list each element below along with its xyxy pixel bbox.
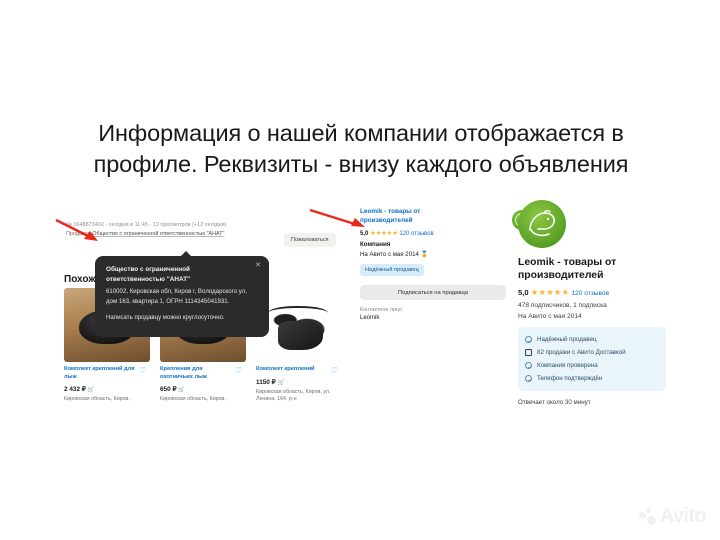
cart-icon: 🛒	[88, 387, 95, 393]
avito-watermark: Avito	[639, 505, 706, 528]
screenshot-collage: № 1648873402 · сегодня в 11:45 · 12 прос…	[56, 200, 668, 415]
seller-since: На Авито с мая 2014 🏅	[360, 251, 510, 258]
annotation-arrow-left	[54, 218, 100, 244]
heart-icon[interactable]: ♡	[235, 366, 244, 375]
seller-company-link[interactable]: Общество с ограниченной ответственностью…	[92, 231, 224, 237]
badge-label: Компания проверена	[537, 362, 598, 369]
list-item: Надёжный продавец	[525, 333, 659, 346]
product-title[interactable]: Комплект креплений	[256, 366, 328, 374]
seller-rating: 5,0 ★★★★★ 120 отзывов	[360, 229, 510, 237]
contact-person-value: Leomik	[360, 315, 510, 321]
tooltip-company-address: 610002, Кировская обл, Киров г, Володарс…	[106, 287, 258, 306]
company-details-tooltip: ✕ Общество с ограниченной ответственност…	[95, 256, 269, 337]
list-item: Компания проверена	[525, 359, 659, 372]
tooltip-company-name: Общество с ограниченной ответственностью…	[106, 265, 246, 285]
heart-icon[interactable]: ♡	[331, 366, 340, 375]
badge-label: Телефон подтверждён	[537, 375, 602, 382]
leomik-logo-icon	[518, 200, 566, 248]
cart-icon: 🛒	[278, 380, 285, 386]
check-circle-icon	[525, 336, 532, 343]
profile-since: На Авито с мая 2014	[518, 313, 668, 320]
seller-rating-value: 5,0	[360, 231, 368, 237]
cart-icon: 🛒	[178, 387, 185, 393]
contact-person-label: Контактное лицо	[360, 307, 510, 313]
check-circle-icon	[525, 362, 532, 369]
star-rating-icon: ★★★★★	[370, 230, 398, 237]
watermark-text: Avito	[660, 505, 706, 528]
product-card[interactable]: ♡ Комплект креплений 1150 ₽ 🛒 Кировская …	[256, 366, 342, 403]
tooltip-note: Написать продавцу можно круглосуточно.	[106, 313, 258, 323]
tooltip-arrow	[181, 251, 191, 256]
close-icon[interactable]: ✕	[255, 262, 261, 269]
avito-dots-icon	[639, 508, 656, 525]
slide-root: Информация о нашей компании отображается…	[0, 0, 720, 540]
seller-info-block: Leomik - товары от производителей 5,0 ★★…	[360, 208, 510, 321]
subscribe-button[interactable]: Подписаться на продавца	[360, 285, 506, 300]
product-location: Кировская область, Киров,	[160, 396, 242, 403]
product-title[interactable]: Крепления для охотничьих лыж	[160, 366, 232, 381]
page-title: Информация о нашей компании отображается…	[44, 118, 678, 180]
product-location: Кировская область, Киров, ул. Ленина, 16…	[256, 389, 338, 403]
product-location: Кировская область, Киров,	[64, 396, 146, 403]
profile-rating: 5,0 ★★★★★ 120 отзывов	[518, 287, 668, 297]
product-card[interactable]: ♡ Комплект креплений для лыж 2 432 ₽ 🛒 К…	[64, 366, 150, 403]
badge-label: Надёжный продавец	[537, 336, 597, 343]
profile-reviews-link[interactable]: 120 отзывов	[571, 290, 609, 297]
seller-name-link[interactable]: Leomik - товары от производителей	[360, 208, 446, 225]
seller-reviews-link[interactable]: 120 отзывов	[399, 231, 433, 237]
annotation-arrow-right	[308, 206, 368, 232]
product-price: 650 ₽ 🛒	[160, 385, 246, 393]
product-price: 1150 ₽ 🛒	[256, 378, 342, 386]
profile-subscribers: 478 подписчиков, 1 подписка	[518, 302, 668, 309]
star-rating-icon: ★★★★★	[531, 287, 570, 297]
profile-reply-time: Отвечает около 30 минут	[518, 399, 668, 406]
list-item: 82 продажи с Авито Доставкой	[525, 346, 659, 359]
profile-name: Leomik - товары от производителей	[518, 256, 654, 282]
profile-badge-list: Надёжный продавец 82 продажи с Авито Дос…	[518, 327, 666, 391]
check-circle-icon	[525, 375, 532, 382]
product-card[interactable]: ♡ Крепления для охотничьих лыж 650 ₽ 🛒 К…	[160, 366, 246, 403]
truck-icon	[525, 349, 532, 356]
product-price: 2 432 ₽ 🛒	[64, 385, 150, 393]
status-badge: Надёжный продавец	[360, 264, 424, 276]
profile-rating-value: 5,0	[518, 288, 529, 297]
product-title[interactable]: Комплект креплений для лыж	[64, 366, 136, 381]
seller-profile-card: Leomik - товары от производителей 5,0 ★★…	[518, 200, 668, 406]
ad-page-fragment: № 1648873402 · сегодня в 11:45 · 12 прос…	[56, 200, 356, 415]
medal-icon: 🏅	[421, 251, 429, 258]
heart-icon[interactable]: ♡	[139, 366, 148, 375]
badge-label: 82 продажи с Авито Доставкой	[537, 349, 626, 356]
seller-type: Компания	[360, 241, 510, 248]
complain-button[interactable]: Пожаловаться	[284, 233, 336, 247]
list-item: Телефон подтверждён	[525, 372, 659, 385]
